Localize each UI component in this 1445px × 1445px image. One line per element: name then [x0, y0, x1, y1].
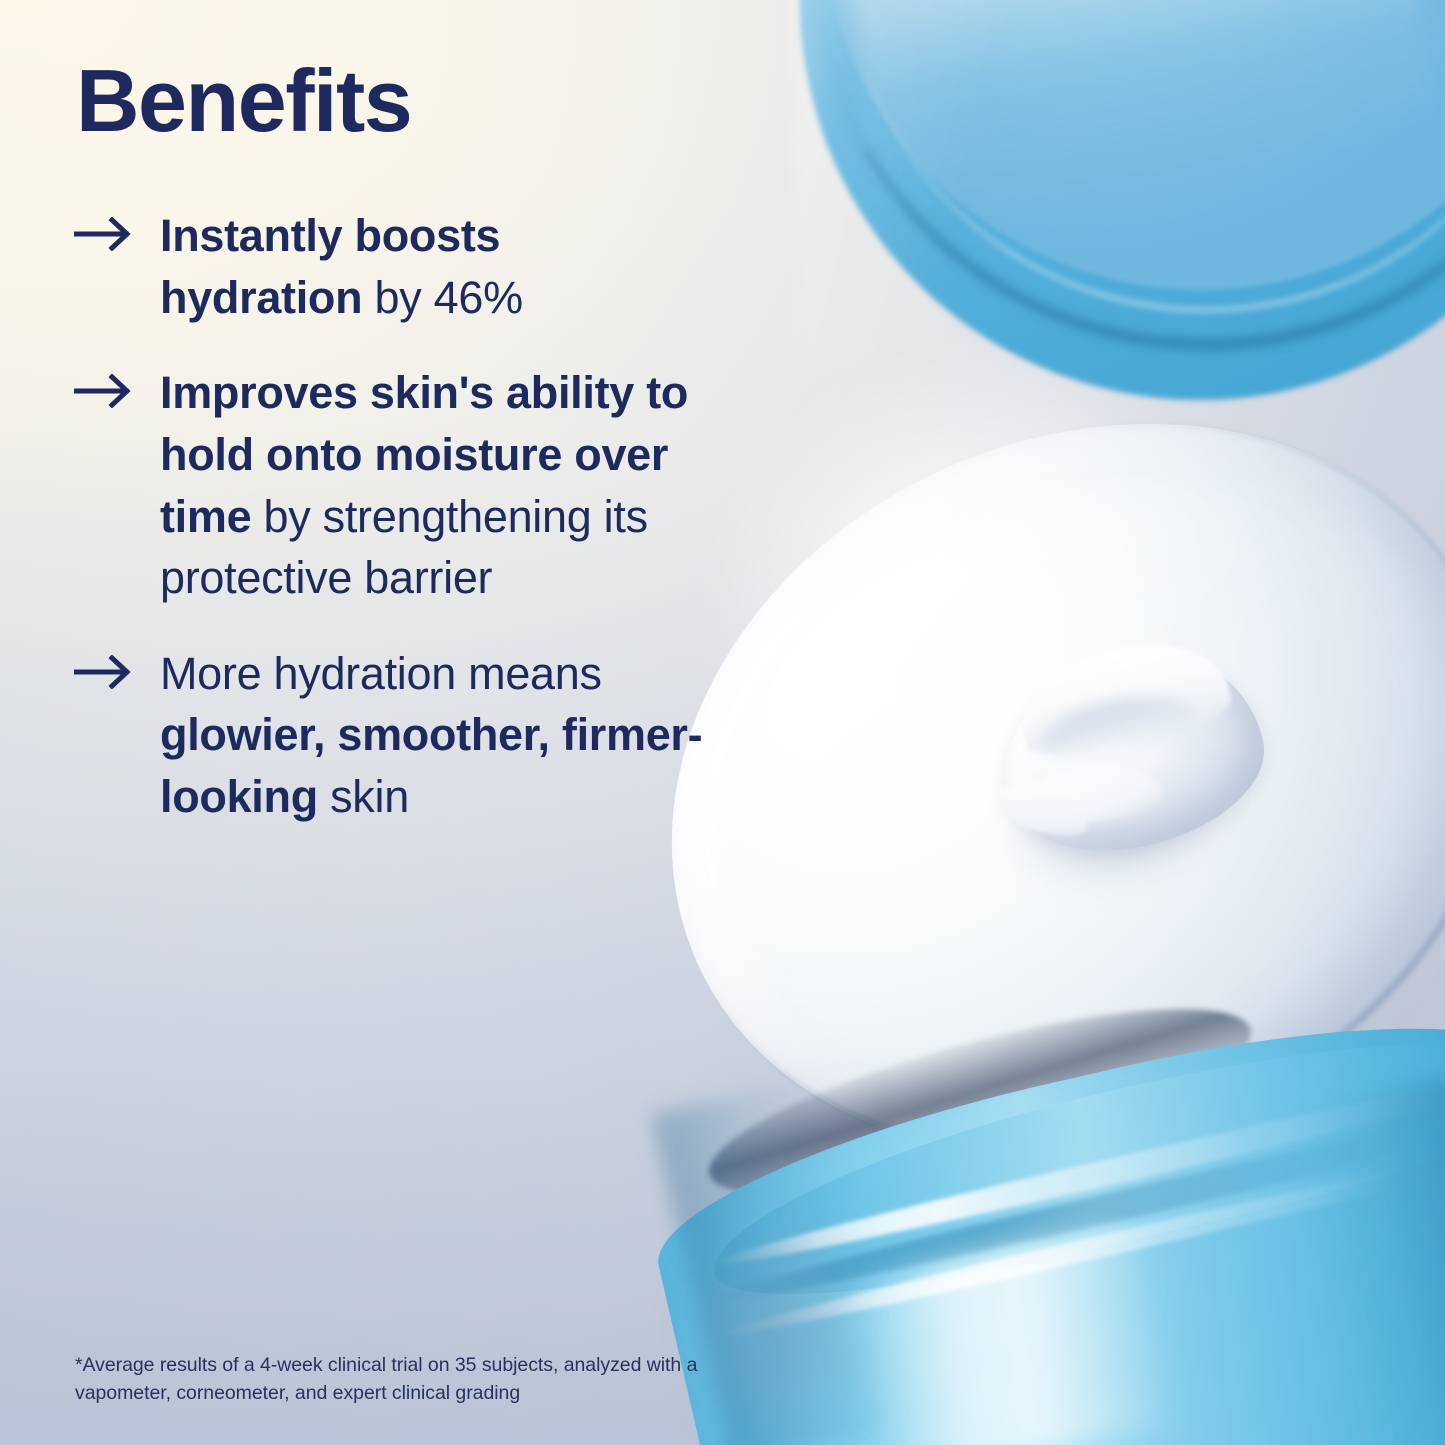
benefit-text-3: More hydration means glowier, smoother, …	[160, 643, 714, 828]
benefit-3-regular-tail: skin	[318, 771, 409, 822]
benefit-text-2: Improves skin's ability to hold onto moi…	[160, 362, 714, 609]
arrow-right-icon	[74, 643, 160, 689]
arrow-right-icon	[74, 205, 160, 251]
benefit-text-1: Instantly boosts hydration by 46%	[160, 205, 714, 328]
benefit-item-2: Improves skin's ability to hold onto moi…	[74, 362, 714, 609]
benefit-1-regular: by 46%	[362, 272, 523, 323]
benefit-item-1: Instantly boosts hydration by 46%	[74, 205, 714, 328]
marketing-image-canvas: Benefits Instantly boosts hydration by 4…	[0, 0, 1445, 1445]
benefit-item-3: More hydration means glowier, smoother, …	[74, 643, 714, 828]
text-content-layer: Benefits Instantly boosts hydration by 4…	[0, 0, 1445, 1445]
benefit-3-bold: glowier, smoother, firmer-looking	[160, 709, 702, 822]
page-title: Benefits	[76, 57, 411, 145]
benefits-list: Instantly boosts hydration by 46% Improv…	[74, 205, 714, 828]
arrow-right-icon	[74, 362, 160, 408]
footnote-disclaimer: *Average results of a 4-week clinical tr…	[75, 1352, 735, 1407]
benefit-3-regular-lead: More hydration means	[160, 648, 602, 699]
